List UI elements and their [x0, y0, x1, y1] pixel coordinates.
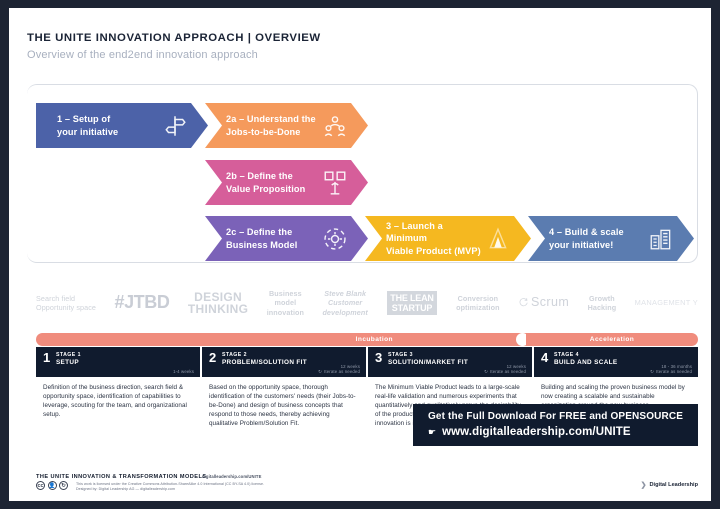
- stage-iterate-label: Iterate as needed: [490, 369, 526, 374]
- stage-duration: 12 weeks ↻ Iterate as needed: [484, 364, 526, 375]
- method-logo-steve-blank: Steve Blank Customer development: [322, 289, 367, 317]
- stage-number: 4: [541, 351, 548, 364]
- flow-arrow-stage-4[interactable]: 4 – Build & scale your initiative!: [528, 216, 694, 261]
- method-logo-jtbd: #JTBD: [114, 298, 169, 307]
- building-icon: [648, 226, 674, 252]
- scrum-swirl-icon: [518, 297, 529, 309]
- stage-box-4[interactable]: 4 STAGE 4 BUILD AND SCALE 18 - 36 months…: [534, 347, 698, 377]
- by-icon: 👤: [48, 481, 57, 490]
- flow-arrow-stage-3[interactable]: 3 – Launch a Minimum Viable Product (MVP…: [365, 216, 531, 261]
- stage-description-2: Based on the opportunity space, thorough…: [202, 383, 366, 468]
- stage-box-3[interactable]: 3 STAGE 3 SOLUTION/MARKET FIT 12 weeks ↻…: [368, 347, 532, 377]
- download-banner-headline: Get the Full Download For FREE and OPENS…: [428, 411, 698, 422]
- phase-acceleration: Acceleration: [526, 333, 698, 346]
- footer-url[interactable]: digitalleadership.com/UNITE: [202, 474, 261, 479]
- gear-icon: [322, 226, 348, 252]
- brand-mark-icon: ❯: [641, 481, 647, 489]
- rocket-icon: [485, 226, 511, 252]
- method-logo-scrum: Scrum: [518, 297, 569, 309]
- method-logo-growth-hacking: Growth Hacking: [588, 294, 617, 313]
- flow-arrow-stage-1[interactable]: 1 – Setup of your initiative: [36, 103, 208, 148]
- stage-box-1[interactable]: 1 STAGE 1 SETUP 1-4 weeks: [36, 347, 200, 377]
- method-logo-lean-startup: THE LEAN STARTUP: [386, 290, 437, 316]
- signpost-icon: [162, 113, 188, 139]
- stage-name: BUILD AND SCALE: [554, 359, 618, 367]
- stage-duration: 12 weeks ↻ Iterate as needed: [318, 364, 360, 375]
- flow-arrow-label: 2b – Define the Value Proposition: [226, 170, 318, 195]
- brand-label: Digital Leadership: [650, 482, 699, 488]
- phase-acceleration-label: Acceleration: [590, 336, 634, 343]
- flow-arrow-label: 3 – Launch a Minimum Viable Product (MVP…: [386, 220, 481, 257]
- stage-name: SOLUTION/MARKET FIT: [388, 359, 468, 367]
- stage-name: SETUP: [56, 359, 81, 367]
- flow-arrow-label: 2a – Understand the Jobs-to-be-Done: [226, 113, 318, 138]
- creative-commons-icons: cc 👤 ↻: [36, 481, 68, 490]
- stage-duration: 18 - 36 months ↻ Iterate as needed: [650, 364, 692, 375]
- methodology-strip: Search field Opportunity space #JTBD DES…: [36, 286, 698, 320]
- flow-arrow-label: 4 – Build & scale your initiative!: [549, 226, 644, 251]
- download-banner-url[interactable]: www.digitalleadership.com/UNITE: [442, 426, 631, 438]
- stage-kicker: STAGE 3: [388, 352, 468, 358]
- flow-arrow-label: 2c – Define the Business Model: [226, 226, 318, 251]
- phase-bar: Incubation Acceleration: [36, 333, 698, 346]
- refresh-icon: ↻: [650, 369, 654, 374]
- stage-description-1: Definition of the business direction, se…: [36, 383, 200, 468]
- sa-icon: ↻: [59, 481, 68, 490]
- page-header: THE UNITE INNOVATION APPROACH | OVERVIEW…: [27, 32, 321, 61]
- flow-arrow-label: 1 – Setup of your initiative: [57, 113, 158, 138]
- stage-duration-value: 1-4 weeks: [173, 369, 194, 374]
- method-logo-scrum-label: Scrum: [531, 298, 569, 307]
- value-prop-icon: [322, 170, 348, 196]
- slide-canvas: THE UNITE INNOVATION APPROACH | OVERVIEW…: [0, 0, 720, 509]
- pointing-hand-icon: ☛: [428, 428, 436, 437]
- flow-arrow-stage-2b[interactable]: 2b – Define the Value Proposition: [205, 160, 368, 205]
- method-logo-search-field: Search field Opportunity space: [36, 294, 96, 313]
- stage-kicker: STAGE 2: [222, 352, 307, 358]
- phase-incubation-label: Incubation: [356, 336, 393, 343]
- refresh-icon: ↻: [318, 369, 322, 374]
- stage-duration: 1-4 weeks: [173, 369, 194, 374]
- method-logo-management-y: MANAGEMENT Y: [635, 298, 698, 307]
- footer-license: This work is licensed under the Creative…: [76, 482, 264, 492]
- people-icon: [322, 113, 348, 139]
- download-banner[interactable]: Get the Full Download For FREE and OPENS…: [413, 404, 698, 446]
- stage-name: PROBLEM/SOLUTION FIT: [222, 359, 307, 367]
- brand-logo: ❯ Digital Leadership: [641, 481, 698, 489]
- stage-box-2[interactable]: 2 STAGE 2 PROBLEM/SOLUTION FIT 12 weeks …: [202, 347, 366, 377]
- flow-arrow-stage-2c[interactable]: 2c – Define the Business Model: [205, 216, 368, 261]
- stage-kicker: STAGE 4: [554, 352, 618, 358]
- phase-incubation: Incubation: [36, 333, 528, 346]
- method-logo-conversion-optimization: Conversion optimization: [456, 294, 500, 313]
- page-subtitle: Overview of the end2end innovation appro…: [27, 49, 321, 61]
- stage-number: 2: [209, 351, 216, 364]
- method-logo-business-model-innovation: Business model innovation: [267, 289, 304, 317]
- flow-arrow-stage-2a[interactable]: 2a – Understand the Jobs-to-be-Done: [205, 103, 368, 148]
- stage-number: 1: [43, 351, 50, 364]
- cc-icon: cc: [36, 481, 45, 490]
- slide-page: THE UNITE INNOVATION APPROACH | OVERVIEW…: [9, 8, 711, 501]
- footer-title: THE UNITE INNOVATION & TRANSFORMATION MO…: [36, 474, 698, 480]
- stage-iterate-label: Iterate as needed: [324, 369, 360, 374]
- stage-number: 3: [375, 351, 382, 364]
- page-title: THE UNITE INNOVATION APPROACH | OVERVIEW: [27, 32, 321, 44]
- stage-iterate-label: Iterate as needed: [656, 369, 692, 374]
- method-logo-design-thinking: DESIGN THINKING: [188, 291, 248, 316]
- refresh-icon: ↻: [484, 369, 488, 374]
- stage-bar: 1 STAGE 1 SETUP 1-4 weeks 2 STAGE 2 PROB…: [36, 347, 698, 377]
- footer-license-line-2: Designed by: Digital Leadership AG — dig…: [76, 487, 264, 492]
- page-footer: THE UNITE INNOVATION & TRANSFORMATION MO…: [36, 474, 698, 498]
- stage-kicker: STAGE 1: [56, 352, 81, 358]
